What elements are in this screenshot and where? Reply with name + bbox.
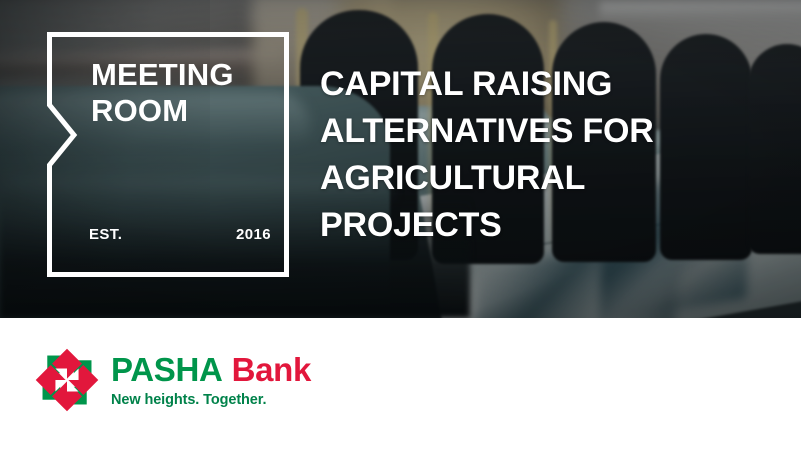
logo-word-bank: Bank — [232, 351, 312, 388]
badge-est-year: 2016 — [236, 226, 271, 243]
page-title-line-3: AGRICULTURAL — [320, 155, 740, 202]
pasha-bank-pinwheel-icon — [33, 346, 101, 414]
logo-wordmark: PASHABank — [111, 353, 311, 386]
meeting-room-badge: MEETING ROOM EST. 2016 — [47, 32, 289, 277]
badge-footer: EST. 2016 — [89, 226, 271, 243]
hero-banner: MEETING ROOM EST. 2016 CAPITAL RAISING A… — [0, 0, 801, 318]
slide-footer: PASHABank New heights. Together. — [0, 318, 801, 451]
page-title-line-1: CAPITAL RAISING — [320, 61, 740, 108]
badge-title-line-2: ROOM — [91, 93, 188, 128]
page-title-line-2: ALTERNATIVES FOR — [320, 108, 740, 155]
page-title: CAPITAL RAISING ALTERNATIVES FOR AGRICUL… — [320, 61, 740, 249]
logo-text-block: PASHABank New heights. Together. — [111, 353, 311, 408]
badge-est-label: EST. — [89, 226, 122, 243]
badge-title-line-1: MEETING — [91, 57, 234, 92]
page-title-line-4: PROJECTS — [320, 202, 740, 249]
pasha-bank-logo: PASHABank New heights. Together. — [33, 346, 311, 414]
presentation-slide: MEETING ROOM EST. 2016 CAPITAL RAISING A… — [0, 0, 801, 451]
logo-word-pasha: PASHA — [111, 351, 223, 388]
badge-title: MEETING ROOM — [91, 57, 286, 129]
logo-tagline: New heights. Together. — [111, 392, 311, 408]
